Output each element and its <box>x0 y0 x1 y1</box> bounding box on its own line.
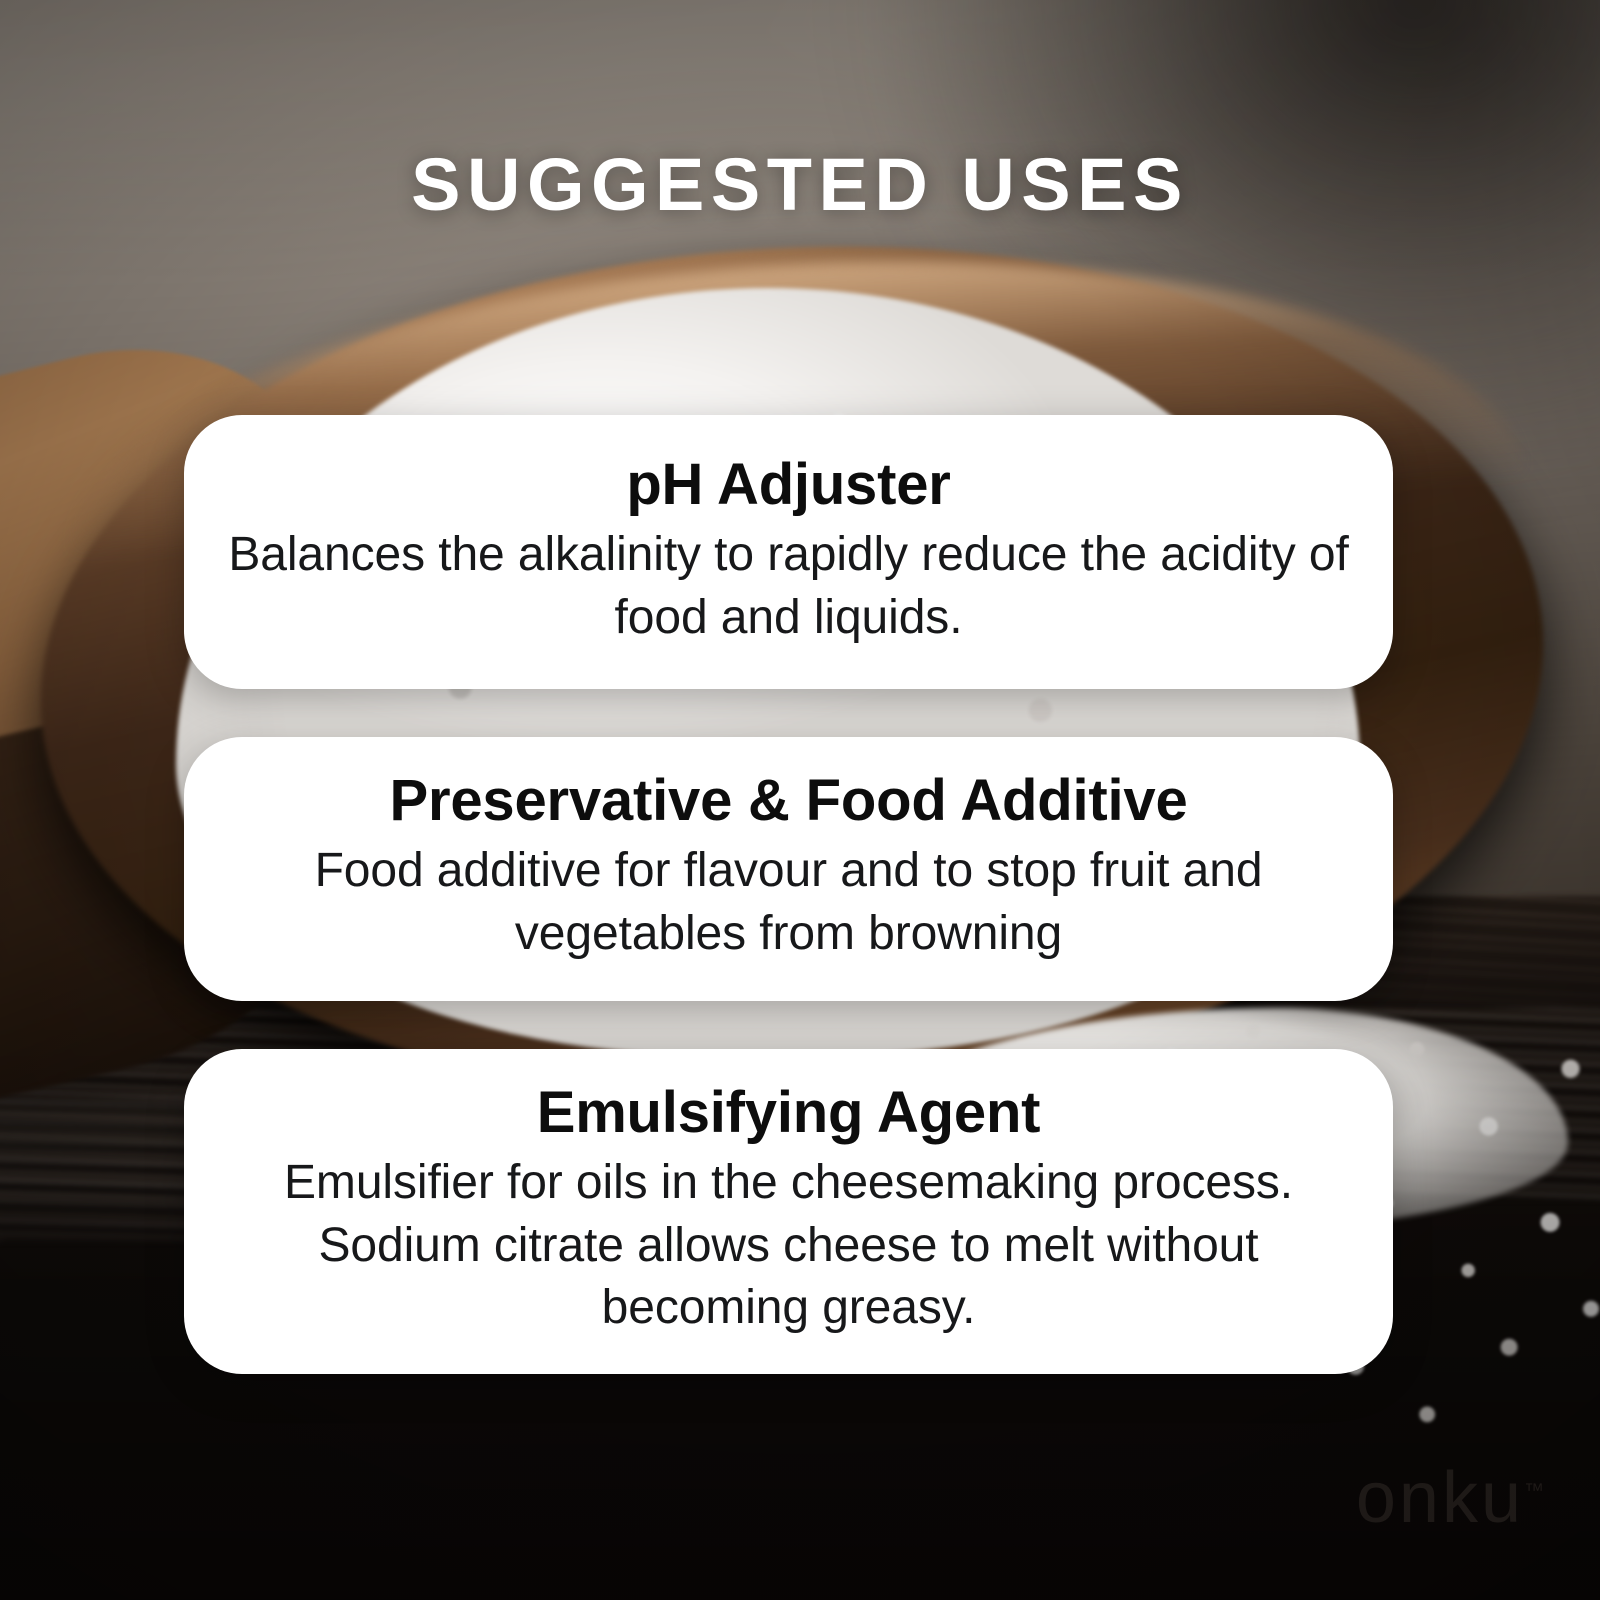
trademark-symbol: ™ <box>1524 1480 1544 1502</box>
infographic-canvas: SUGGESTED USES pH Adjuster Balances the … <box>0 0 1600 1600</box>
use-card-preservative-food-additive: Preservative & Food Additive Food additi… <box>184 737 1393 1001</box>
use-card-description: Balances the alkalinity to rapidly reduc… <box>228 524 1349 649</box>
uses-card-list: pH Adjuster Balances the alkalinity to r… <box>184 415 1393 1374</box>
page-title: SUGGESTED USES <box>0 148 1600 222</box>
use-card-ph-adjuster: pH Adjuster Balances the alkalinity to r… <box>184 415 1393 689</box>
use-card-description: Food additive for flavour and to stop fr… <box>214 840 1363 965</box>
use-card-title: pH Adjuster <box>228 451 1349 518</box>
use-card-title: Emulsifying Agent <box>228 1079 1349 1146</box>
brand-watermark-text: onku <box>1356 1458 1524 1538</box>
use-card-description: Emulsifier for oils in the cheesemaking … <box>228 1152 1349 1339</box>
use-card-emulsifying-agent: Emulsifying Agent Emulsifier for oils in… <box>184 1049 1393 1373</box>
brand-watermark: onku™ <box>1356 1462 1544 1534</box>
use-card-title: Preservative & Food Additive <box>214 767 1363 834</box>
content-layer: SUGGESTED USES pH Adjuster Balances the … <box>0 0 1600 1600</box>
